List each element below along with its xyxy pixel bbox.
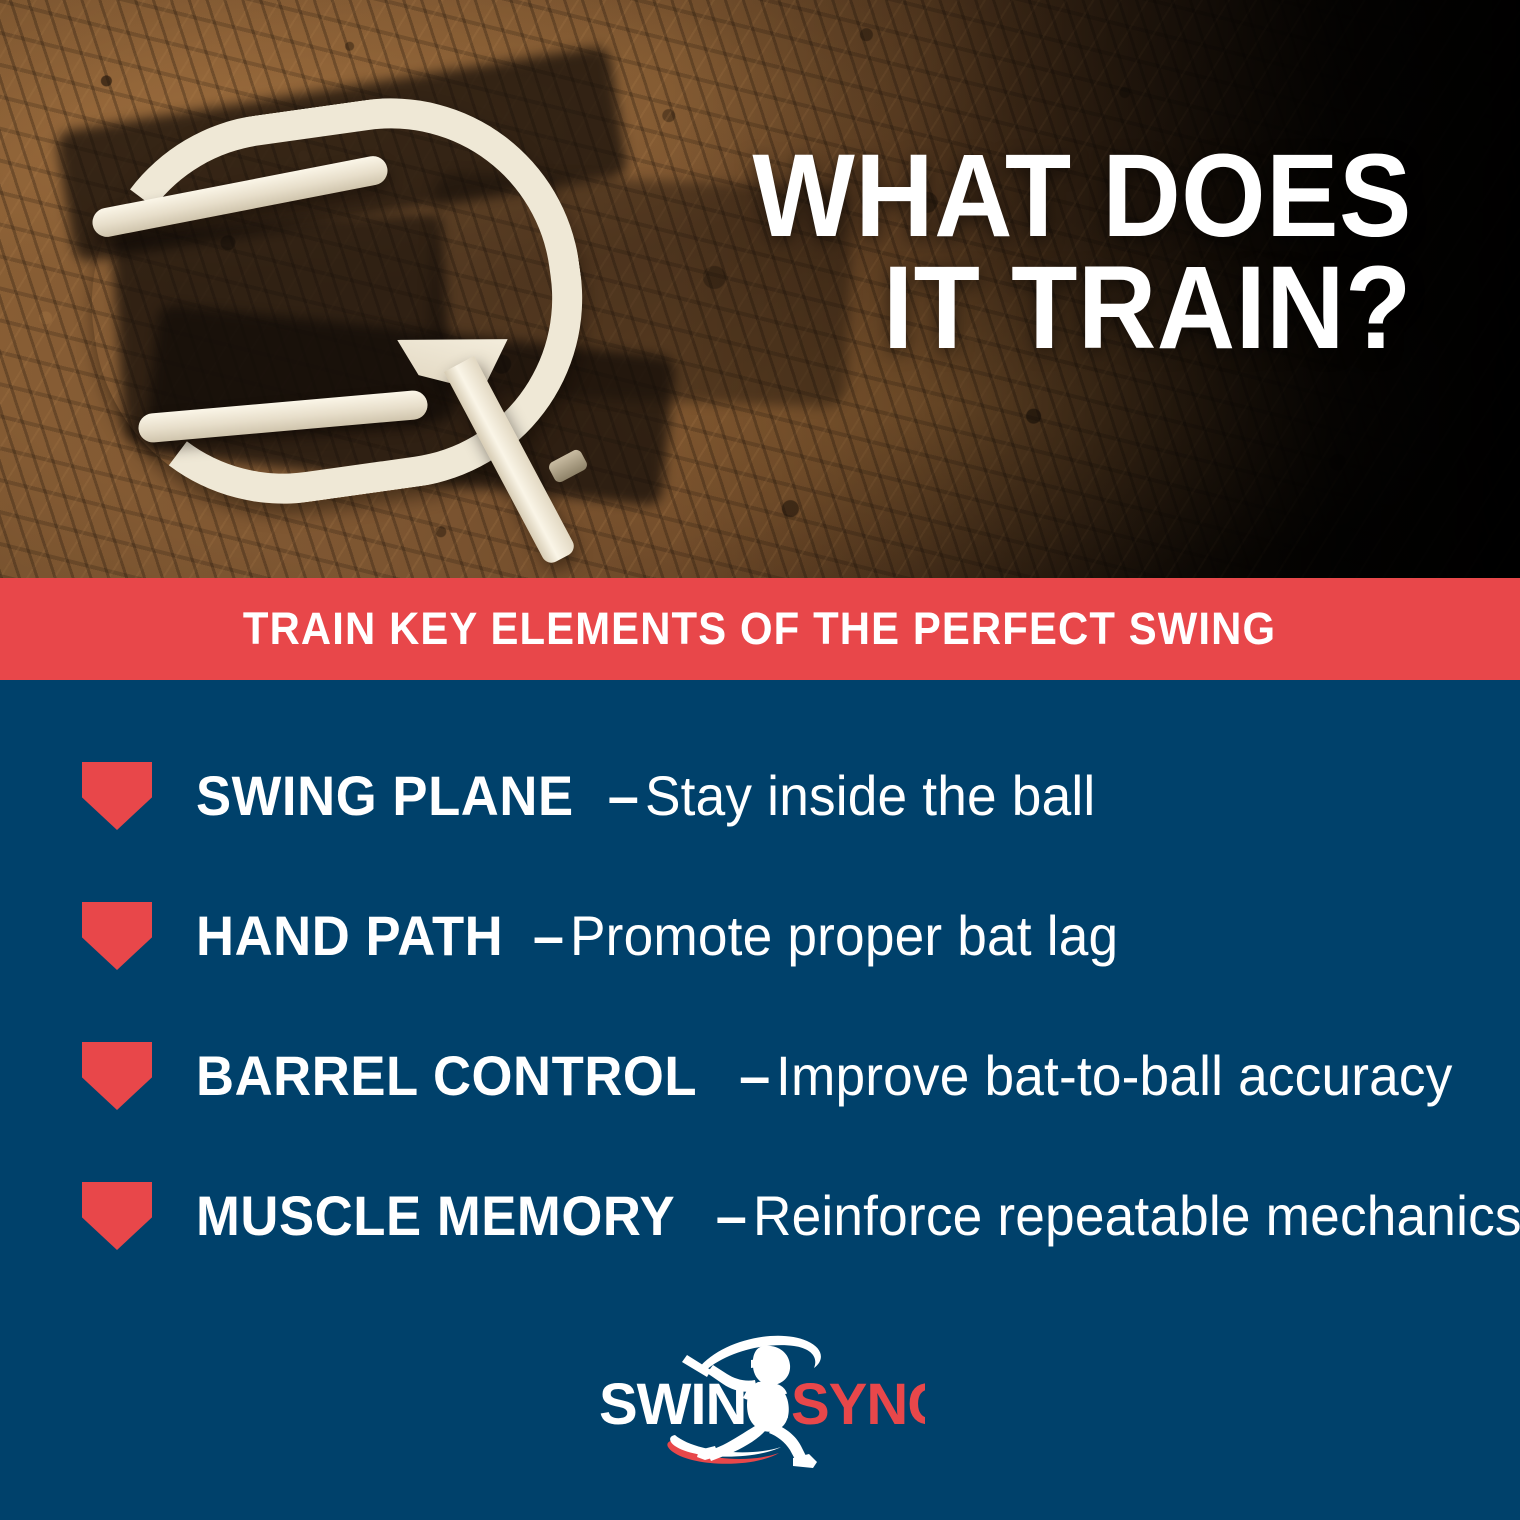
- list-item-text: HAND PATH–Promote proper bat lag: [196, 908, 1147, 964]
- list-item-text: MUSCLE MEMORY–Reinforce repeatable mecha…: [196, 1188, 1520, 1244]
- list-item-term: SWING PLANE: [196, 768, 574, 824]
- list-item-text: SWING PLANE–Stay inside the ball: [196, 768, 1119, 824]
- red-banner: TRAIN KEY ELEMENTS OF THE PERFECT SWING: [0, 578, 1520, 680]
- list-item-description: Reinforce repeatable mechanics: [753, 1188, 1520, 1244]
- home-plate-bullet-icon: [82, 1182, 152, 1250]
- list-item-description: Stay inside the ball: [645, 768, 1095, 824]
- list-item: SWING PLANE–Stay inside the ball: [0, 726, 1520, 866]
- logo-word-sync: SYNC: [791, 1372, 925, 1437]
- list-item-dash: –: [598, 764, 645, 827]
- list-item-term: BARREL CONTROL: [196, 1048, 697, 1104]
- logo-graphic: SWING SYNC: [595, 1332, 925, 1472]
- list-item: BARREL CONTROL–Improve bat-to-ball accur…: [0, 1006, 1520, 1146]
- headline-line-2: IT TRAIN?: [753, 252, 1412, 364]
- list-item-description: Promote proper bat lag: [570, 908, 1118, 964]
- home-plate-bullet-icon: [82, 1042, 152, 1110]
- headline: WHAT DOES IT TRAIN?: [695, 140, 1412, 364]
- list-item-description: Improve bat-to-ball accuracy: [776, 1048, 1453, 1104]
- home-plate-bullet-icon: [82, 902, 152, 970]
- feature-list: SWING PLANE–Stay inside the ball HAND PA…: [0, 680, 1520, 1286]
- swing-sync-logo: SWING SYNC: [595, 1332, 925, 1472]
- infographic-poster: WHAT DOES IT TRAIN? TRAIN KEY ELEMENTS O…: [0, 0, 1520, 1520]
- list-item-term: HAND PATH: [196, 908, 503, 964]
- headline-line-1: WHAT DOES: [753, 140, 1412, 252]
- list-item-dash: –: [729, 1044, 776, 1107]
- list-item-term: MUSCLE MEMORY: [196, 1188, 675, 1244]
- list-item-text: BARREL CONTROL–Improve bat-to-ball accur…: [196, 1048, 1488, 1104]
- list-item-dash: –: [523, 904, 570, 967]
- banner-headline: TRAIN KEY ELEMENTS OF THE PERFECT SWING: [243, 603, 1276, 655]
- list-item: MUSCLE MEMORY–Reinforce repeatable mecha…: [0, 1146, 1520, 1286]
- home-plate-bullet-icon: [82, 762, 152, 830]
- list-item-dash: –: [706, 1184, 753, 1247]
- logo-word-swing: SWING: [599, 1372, 791, 1437]
- list-item: HAND PATH–Promote proper bat lag: [0, 866, 1520, 1006]
